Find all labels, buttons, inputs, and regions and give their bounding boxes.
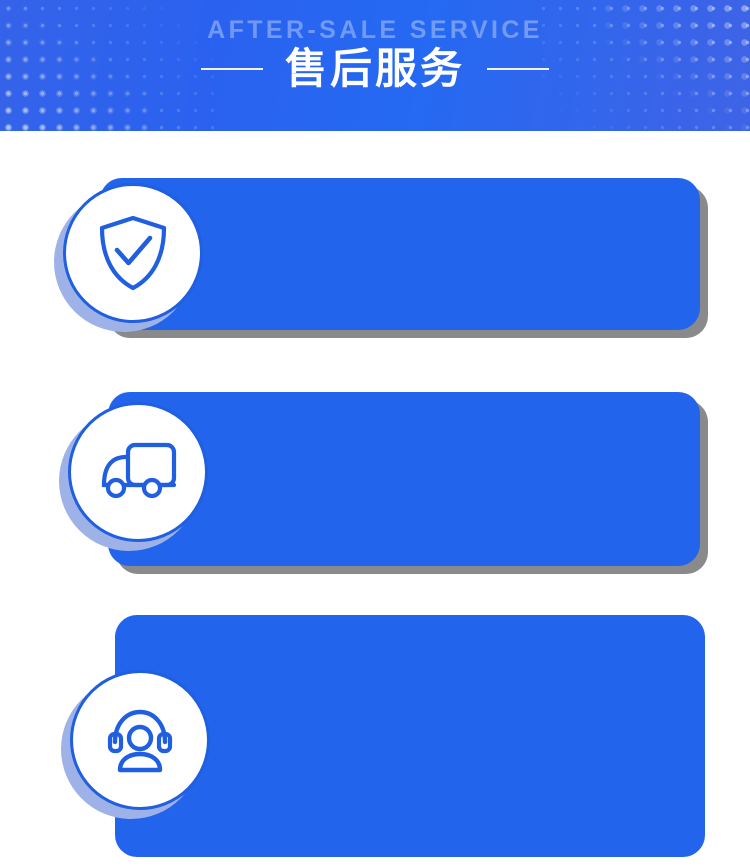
banner-rule-right	[487, 68, 549, 70]
banner-chinese-title: 售后服务	[285, 48, 465, 90]
delivery-truck-icon	[96, 441, 180, 503]
banner-english-title: AFTER-SALE SERVICE	[0, 16, 750, 45]
service-card-about-products: 关于产品 ABOUT PRODUCTS 本厂产品尺寸规格种类繁多，所以型号会有所…	[100, 178, 708, 338]
shield-check-icon	[96, 214, 170, 292]
page-header-banner: AFTER-SALE SERVICE 售后服务	[0, 0, 750, 131]
badge-circle	[63, 183, 203, 323]
badge-circle	[70, 670, 210, 810]
card-icon-badge	[63, 183, 203, 323]
service-card-goods-receipt: 货物签收 GOODS RECEIPT 为保障您的货物质量和相关权益，请您在签收时…	[108, 392, 708, 574]
banner-rule-left	[201, 68, 263, 70]
card-icon-badge	[70, 670, 210, 810]
service-card-after-sale-service: 售后服务 AFTER-SALE SERVICE 本店商品在发货前均经过严格的检查…	[115, 615, 705, 857]
badge-circle	[68, 402, 208, 542]
card-icon-badge	[68, 402, 208, 542]
banner-title-row: 售后服务	[0, 48, 750, 90]
customer-support-headset-icon	[101, 704, 179, 776]
